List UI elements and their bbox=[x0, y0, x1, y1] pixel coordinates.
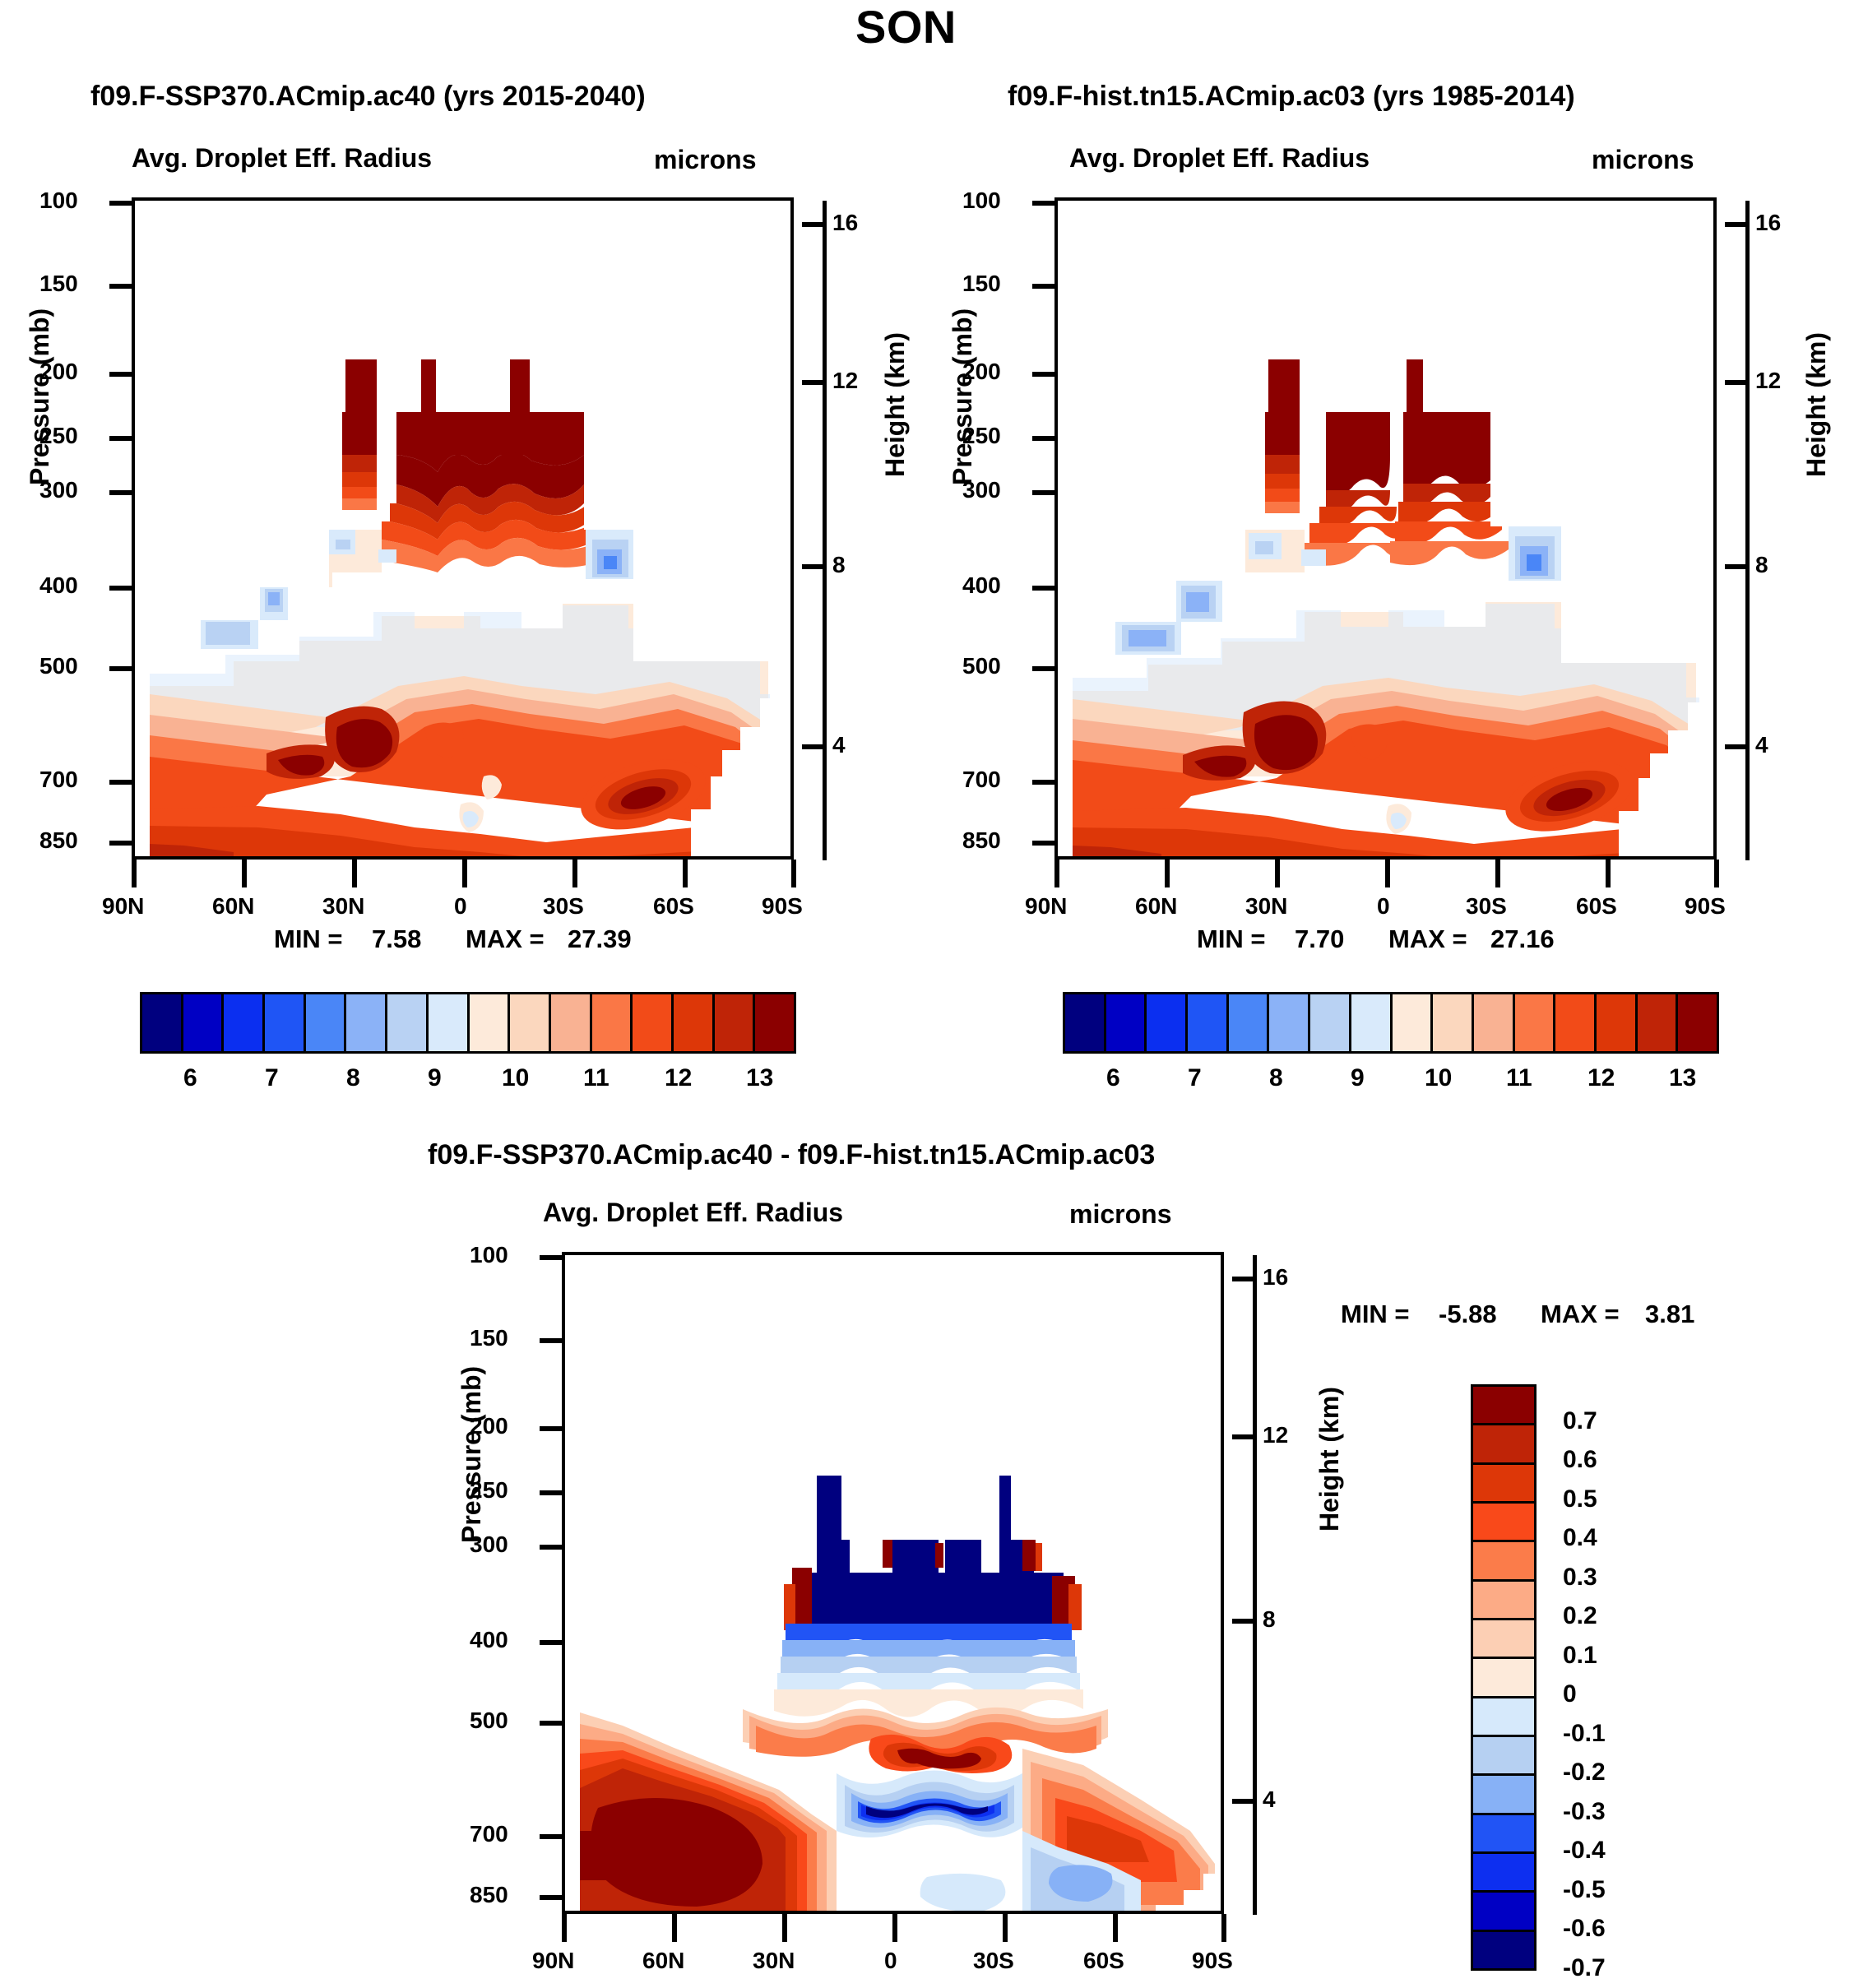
tick-lat-0 bbox=[1385, 860, 1390, 887]
colorbar-swatch bbox=[1147, 994, 1188, 1051]
colorbar-tick-label: 0.5 bbox=[1563, 1485, 1597, 1513]
xtick-label: 90S bbox=[762, 893, 803, 920]
units-label: microns bbox=[1592, 145, 1694, 175]
tick-p-400 bbox=[540, 1640, 564, 1645]
colorbar-swatch bbox=[429, 994, 470, 1051]
ytick-label: 500 bbox=[39, 653, 78, 679]
tick-lat-90S bbox=[791, 860, 796, 887]
colorbar-tick-label: 8 bbox=[346, 1064, 360, 1092]
colorbar-swatch bbox=[1473, 1815, 1534, 1854]
max-label: MAX = bbox=[466, 924, 545, 954]
colorbar-swatch bbox=[470, 994, 511, 1051]
tick-p-200 bbox=[540, 1426, 564, 1431]
xtick-label: 30S bbox=[1466, 893, 1507, 920]
min-label: MIN = bbox=[1341, 1300, 1410, 1329]
height-axis-title: Height (km) bbox=[1314, 1387, 1345, 1532]
colorbar-tick-label: 10 bbox=[1425, 1064, 1452, 1092]
max-value: 27.16 bbox=[1490, 924, 1555, 954]
colorbar-swatch bbox=[142, 994, 183, 1051]
colorbar-absolute bbox=[1063, 992, 1719, 1054]
colorbar-tick-label: 10 bbox=[502, 1064, 529, 1092]
tick-h-4 bbox=[1725, 744, 1746, 749]
tick-lat-90N bbox=[562, 1914, 567, 1942]
tick-lat-90S bbox=[1221, 1914, 1226, 1942]
tick-lat-30S bbox=[1495, 860, 1500, 887]
tick-p-400 bbox=[1032, 586, 1057, 591]
tick-p-200 bbox=[109, 372, 134, 377]
height-axis-line bbox=[1745, 201, 1750, 860]
colorbar-absolute bbox=[140, 992, 796, 1054]
tick-p-500 bbox=[109, 666, 134, 671]
height-axis-title: Height (km) bbox=[880, 332, 911, 477]
colorbar-swatch bbox=[1229, 994, 1270, 1051]
max-value: 27.39 bbox=[568, 924, 632, 954]
colorbar-swatch bbox=[387, 994, 429, 1051]
height-axis-title: Height (km) bbox=[1801, 332, 1832, 477]
colorbar-swatch bbox=[1473, 1542, 1534, 1581]
tick-p-100 bbox=[109, 201, 134, 206]
xtick-label: 90S bbox=[1685, 893, 1726, 920]
ytick-label: 150 bbox=[470, 1325, 508, 1351]
tick-lat-90N bbox=[132, 860, 137, 887]
xtick-label: 0 bbox=[1377, 893, 1390, 920]
tick-h-16 bbox=[802, 222, 823, 227]
colorbar-tick-label: 0.7 bbox=[1563, 1407, 1597, 1435]
colorbar-tick-label: -0.7 bbox=[1563, 1954, 1606, 1982]
ytick-label: 700 bbox=[470, 1821, 508, 1847]
xtick-label: 90S bbox=[1192, 1948, 1233, 1974]
tick-p-250 bbox=[109, 436, 134, 441]
ytick-label: 850 bbox=[962, 827, 1001, 854]
colorbar-tick-label: 0.2 bbox=[1563, 1602, 1597, 1630]
ytick-label: 250 bbox=[39, 423, 78, 449]
xtick-label: 60S bbox=[653, 893, 694, 920]
tick-lat-60N bbox=[242, 860, 247, 887]
tick-h-4 bbox=[1232, 1799, 1254, 1804]
xtick-label: 30N bbox=[753, 1948, 795, 1974]
ytick-label: 700 bbox=[962, 767, 1001, 793]
max-label: MAX = bbox=[1541, 1300, 1620, 1329]
ytick-label: 250 bbox=[470, 1477, 508, 1504]
tick-lat-30S bbox=[572, 860, 577, 887]
tick-p-850 bbox=[109, 841, 134, 846]
panel-title: f09.F-SSP370.ACmip.ac40 (yrs 2015-2040) bbox=[90, 81, 646, 113]
tick-p-850 bbox=[1032, 841, 1057, 846]
ytick-label: 200 bbox=[39, 359, 78, 385]
colorbar-swatch bbox=[674, 994, 715, 1051]
tick-p-250 bbox=[1032, 436, 1057, 441]
variable-label: Avg. Droplet Eff. Radius bbox=[132, 143, 432, 174]
y2tick-label: 4 bbox=[1263, 1786, 1276, 1813]
tick-p-300 bbox=[540, 1545, 564, 1550]
colorbar-swatch bbox=[1473, 1387, 1534, 1425]
ytick-label: 150 bbox=[39, 271, 78, 297]
tick-lat-30S bbox=[1003, 1914, 1008, 1942]
ytick-label: 850 bbox=[39, 827, 78, 854]
contour-plot-area bbox=[132, 197, 794, 860]
y2tick-label: 8 bbox=[1755, 552, 1768, 578]
colorbar-swatch bbox=[183, 994, 225, 1051]
figure-canvas: SON f09.F-SSP370.ACmip.ac40 (yrs 2015-20… bbox=[0, 0, 1854, 1988]
variable-label: Avg. Droplet Eff. Radius bbox=[1069, 143, 1370, 174]
colorbar-swatch bbox=[1473, 1698, 1534, 1737]
xtick-label: 60S bbox=[1576, 893, 1617, 920]
xtick-label: 0 bbox=[454, 893, 467, 920]
y2tick-label: 4 bbox=[1755, 732, 1768, 758]
tick-lat-30N bbox=[1275, 860, 1280, 887]
tick-p-150 bbox=[109, 284, 134, 289]
colorbar-swatch bbox=[592, 994, 633, 1051]
pressure-axis-title: Pressure (mb) bbox=[25, 308, 55, 485]
colorbar-swatch bbox=[1597, 994, 1638, 1051]
colorbar-swatch bbox=[1678, 994, 1717, 1051]
max-label: MAX = bbox=[1388, 924, 1467, 954]
tick-lat-0 bbox=[892, 1914, 897, 1942]
ytick-label: 300 bbox=[39, 477, 78, 503]
colorbar-tick-label: 13 bbox=[746, 1064, 773, 1092]
ytick-label: 300 bbox=[470, 1532, 508, 1558]
panel-title: f09.F-SSP370.ACmip.ac40 - f09.F-hist.tn1… bbox=[428, 1139, 1155, 1171]
min-value: -5.88 bbox=[1439, 1300, 1497, 1329]
y2tick-label: 16 bbox=[832, 210, 858, 236]
colorbar-tick-label: 11 bbox=[583, 1064, 610, 1092]
tick-lat-30N bbox=[782, 1914, 787, 1942]
y2tick-label: 16 bbox=[1755, 210, 1781, 236]
tick-p-150 bbox=[540, 1338, 564, 1343]
colorbar-swatch bbox=[1473, 1854, 1534, 1893]
ytick-label: 200 bbox=[470, 1413, 508, 1439]
tick-h-12 bbox=[802, 380, 823, 385]
tick-h-16 bbox=[1232, 1277, 1254, 1281]
colorbar-swatch bbox=[265, 994, 306, 1051]
colorbar-swatch bbox=[1351, 994, 1393, 1051]
tick-lat-0 bbox=[462, 860, 467, 887]
height-axis-line bbox=[823, 201, 827, 860]
contour-plot-area bbox=[562, 1252, 1224, 1914]
tick-p-250 bbox=[540, 1490, 564, 1495]
colorbar-swatch bbox=[346, 994, 387, 1051]
tick-h-4 bbox=[802, 744, 823, 749]
colorbar-tick-label: 12 bbox=[665, 1064, 692, 1092]
colorbar-tick-label: -0.3 bbox=[1563, 1798, 1606, 1826]
min-label: MIN = bbox=[274, 924, 343, 954]
y2tick-label: 12 bbox=[1755, 368, 1781, 394]
colorbar-tick-label: -0.5 bbox=[1563, 1876, 1606, 1904]
xtick-label: 30S bbox=[973, 1948, 1014, 1974]
colorbar-swatch bbox=[755, 994, 794, 1051]
contour-field bbox=[565, 1255, 1224, 1914]
tick-p-100 bbox=[1032, 201, 1057, 206]
min-label: MIN = bbox=[1197, 924, 1266, 954]
colorbar-swatch bbox=[1065, 994, 1106, 1051]
ytick-label: 100 bbox=[470, 1242, 508, 1268]
colorbar-swatch bbox=[1473, 1893, 1534, 1931]
ytick-label: 150 bbox=[962, 271, 1001, 297]
colorbar-swatch bbox=[1269, 994, 1310, 1051]
colorbar-swatch bbox=[1473, 1620, 1534, 1659]
variable-label: Avg. Droplet Eff. Radius bbox=[543, 1198, 843, 1228]
tick-lat-60S bbox=[683, 860, 688, 887]
colorbar-swatch bbox=[510, 994, 551, 1051]
pressure-axis-title: Pressure (mb) bbox=[948, 308, 978, 485]
tick-lat-30N bbox=[352, 860, 357, 887]
y2tick-label: 12 bbox=[1263, 1422, 1288, 1448]
xtick-label: 90N bbox=[102, 893, 144, 920]
colorbar-swatch bbox=[551, 994, 592, 1051]
xtick-label: 30N bbox=[1245, 893, 1287, 920]
y2tick-label: 12 bbox=[832, 368, 858, 394]
xtick-label: 60N bbox=[642, 1948, 684, 1974]
ytick-label: 200 bbox=[962, 359, 1001, 385]
contour-plot-area bbox=[1054, 197, 1717, 860]
ytick-label: 500 bbox=[962, 653, 1001, 679]
tick-p-100 bbox=[540, 1255, 564, 1260]
ytick-label: 400 bbox=[39, 572, 78, 599]
panel-title: f09.F-hist.tn15.ACmip.ac03 (yrs 1985-201… bbox=[1008, 81, 1575, 113]
tick-p-200 bbox=[1032, 372, 1057, 377]
ytick-label: 700 bbox=[39, 767, 78, 793]
colorbar-swatch bbox=[224, 994, 265, 1051]
tick-p-300 bbox=[109, 490, 134, 495]
tick-p-150 bbox=[1032, 284, 1057, 289]
colorbar-difference bbox=[1471, 1384, 1537, 1971]
y2tick-label: 8 bbox=[1263, 1606, 1276, 1633]
tick-h-12 bbox=[1725, 380, 1746, 385]
tick-p-700 bbox=[109, 780, 134, 785]
colorbar-swatch bbox=[1555, 994, 1597, 1051]
colorbar-swatch bbox=[1473, 1465, 1534, 1504]
xtick-label: 60N bbox=[1135, 893, 1177, 920]
tick-h-8 bbox=[802, 564, 823, 569]
colorbar-swatch bbox=[1638, 994, 1679, 1051]
xtick-label: 30N bbox=[322, 893, 364, 920]
tick-p-500 bbox=[1032, 666, 1057, 671]
colorbar-tick-label: -0.1 bbox=[1563, 1720, 1606, 1748]
min-value: 7.70 bbox=[1295, 924, 1344, 954]
figure-suptitle: SON bbox=[855, 0, 957, 53]
colorbar-tick-label: 7 bbox=[265, 1064, 279, 1092]
pressure-axis-title: Pressure (mb) bbox=[457, 1366, 487, 1543]
tick-lat-60S bbox=[1606, 860, 1611, 887]
colorbar-tick-label: 7 bbox=[1188, 1064, 1202, 1092]
tick-h-16 bbox=[1725, 222, 1746, 227]
ytick-label: 500 bbox=[470, 1708, 508, 1734]
ytick-label: 400 bbox=[470, 1627, 508, 1653]
colorbar-tick-label: 0.6 bbox=[1563, 1446, 1597, 1474]
colorbar-tick-label: 12 bbox=[1587, 1064, 1615, 1092]
colorbar-swatch bbox=[1473, 1932, 1534, 1968]
tick-p-700 bbox=[1032, 780, 1057, 785]
colorbar-tick-label: 0.1 bbox=[1563, 1642, 1597, 1670]
colorbar-tick-label: 0.3 bbox=[1563, 1564, 1597, 1592]
xtick-label: 90N bbox=[1025, 893, 1067, 920]
colorbar-swatch bbox=[1188, 994, 1229, 1051]
tick-lat-60N bbox=[1165, 860, 1170, 887]
colorbar-swatch bbox=[1473, 1659, 1534, 1698]
colorbar-tick-label: 11 bbox=[1506, 1064, 1532, 1092]
tick-h-8 bbox=[1232, 1619, 1254, 1624]
colorbar-tick-label: -0.2 bbox=[1563, 1759, 1606, 1786]
colorbar-swatch bbox=[715, 994, 756, 1051]
colorbar-swatch bbox=[1310, 994, 1351, 1051]
colorbar-tick-label: 6 bbox=[183, 1064, 197, 1092]
ytick-label: 100 bbox=[39, 188, 78, 214]
colorbar-tick-label: 6 bbox=[1106, 1064, 1120, 1092]
colorbar-swatch bbox=[1433, 994, 1474, 1051]
colorbar-tick-label: -0.4 bbox=[1563, 1837, 1606, 1865]
colorbar-tick-label: 8 bbox=[1269, 1064, 1283, 1092]
contour-field bbox=[1058, 201, 1717, 860]
colorbar-swatch bbox=[1515, 994, 1556, 1051]
tick-p-850 bbox=[540, 1895, 564, 1900]
units-label: microns bbox=[654, 145, 756, 175]
colorbar-tick-label: 0.4 bbox=[1563, 1524, 1597, 1552]
tick-p-400 bbox=[109, 586, 134, 591]
colorbar-swatch bbox=[1473, 1582, 1534, 1620]
ytick-label: 300 bbox=[962, 477, 1001, 503]
ytick-label: 850 bbox=[470, 1882, 508, 1908]
tick-h-8 bbox=[1725, 564, 1746, 569]
tick-lat-90S bbox=[1714, 860, 1719, 887]
colorbar-swatch bbox=[1473, 1425, 1534, 1464]
colorbar-tick-label: -0.6 bbox=[1563, 1915, 1606, 1943]
colorbar-tick-label: 0 bbox=[1563, 1680, 1577, 1708]
min-value: 7.58 bbox=[372, 924, 421, 954]
y2tick-label: 8 bbox=[832, 552, 846, 578]
tick-lat-60S bbox=[1113, 1914, 1118, 1942]
xtick-label: 90N bbox=[532, 1948, 574, 1974]
tick-lat-60N bbox=[672, 1914, 677, 1942]
colorbar-swatch bbox=[1473, 1737, 1534, 1776]
colorbar-swatch bbox=[1106, 994, 1147, 1051]
max-value: 3.81 bbox=[1645, 1300, 1694, 1329]
colorbar-swatch bbox=[1393, 994, 1434, 1051]
colorbar-swatch bbox=[1473, 1776, 1534, 1814]
y2tick-label: 16 bbox=[1263, 1264, 1288, 1291]
units-label: microns bbox=[1069, 1199, 1171, 1230]
colorbar-tick-label: 9 bbox=[428, 1064, 442, 1092]
ytick-label: 400 bbox=[962, 572, 1001, 599]
height-axis-line bbox=[1253, 1255, 1257, 1915]
xtick-label: 60S bbox=[1083, 1948, 1124, 1974]
xtick-label: 0 bbox=[884, 1948, 897, 1974]
tick-p-500 bbox=[540, 1721, 564, 1726]
y2tick-label: 4 bbox=[832, 732, 846, 758]
colorbar-swatch bbox=[306, 994, 347, 1051]
colorbar-swatch bbox=[1474, 994, 1515, 1051]
ytick-label: 100 bbox=[962, 188, 1001, 214]
tick-p-700 bbox=[540, 1834, 564, 1839]
tick-p-300 bbox=[1032, 490, 1057, 495]
colorbar-tick-label: 13 bbox=[1669, 1064, 1696, 1092]
tick-lat-90N bbox=[1054, 860, 1059, 887]
contour-field bbox=[135, 201, 794, 860]
xtick-label: 30S bbox=[543, 893, 584, 920]
ytick-label: 250 bbox=[962, 423, 1001, 449]
colorbar-tick-label: 9 bbox=[1351, 1064, 1365, 1092]
colorbar-swatch bbox=[1473, 1504, 1534, 1542]
colorbar-swatch bbox=[633, 994, 674, 1051]
tick-h-12 bbox=[1232, 1434, 1254, 1439]
xtick-label: 60N bbox=[212, 893, 254, 920]
